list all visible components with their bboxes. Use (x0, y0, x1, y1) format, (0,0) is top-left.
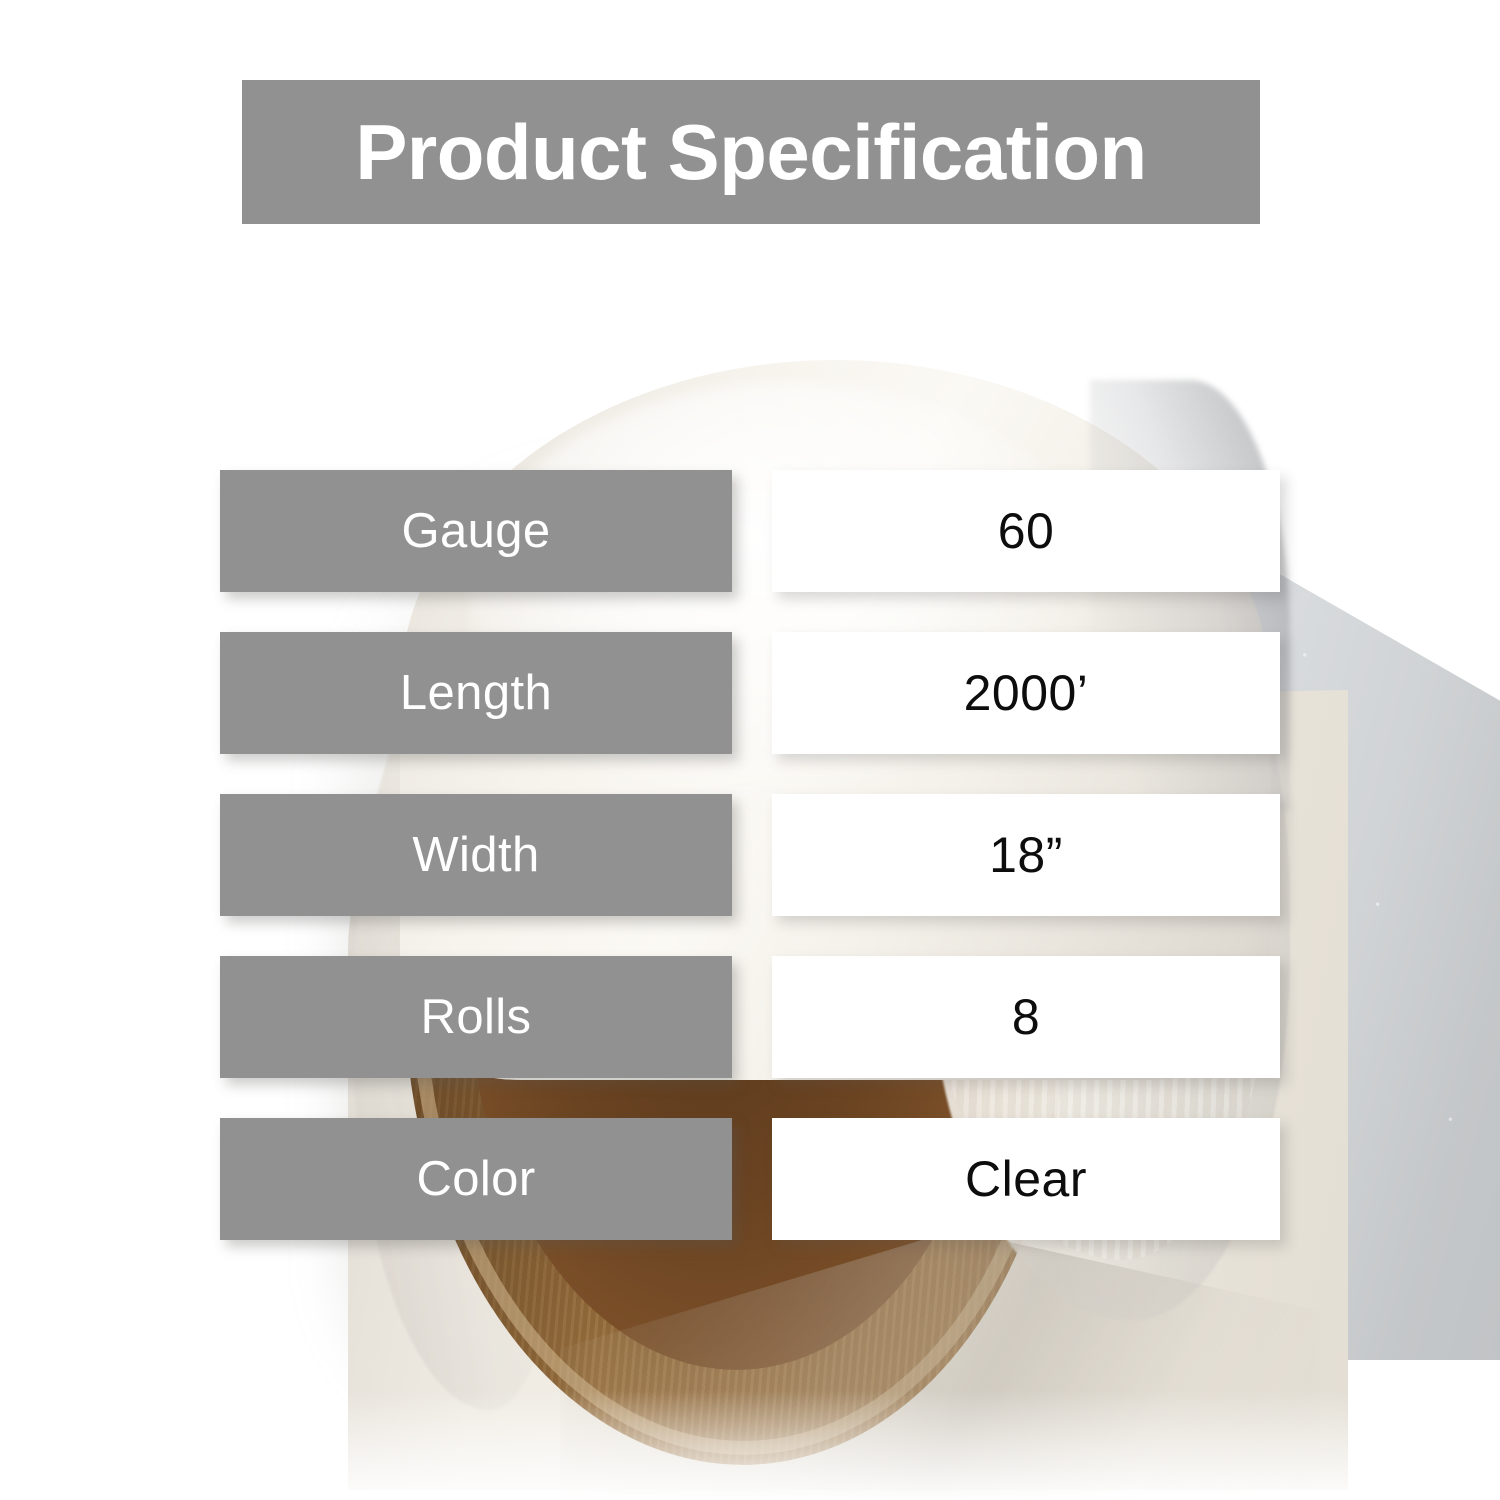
spec-value-text: 8 (1012, 992, 1040, 1042)
spec-label-cell: Width (220, 794, 732, 916)
spec-value-cell: 18” (772, 794, 1280, 916)
spec-table: Gauge 60 Length 2000’ Width 18” Rol (0, 0, 1500, 1500)
spec-value-text: 18” (989, 830, 1063, 880)
spec-label-text: Rolls (421, 993, 532, 1042)
spec-label-text: Gauge (401, 507, 550, 556)
spec-label-text: Width (412, 831, 539, 880)
spec-label-cell: Gauge (220, 470, 732, 592)
spec-value-text: 60 (998, 506, 1055, 556)
spec-label-cell: Length (220, 632, 732, 754)
spec-value-cell: Clear (772, 1118, 1280, 1240)
spec-value-cell: 60 (772, 470, 1280, 592)
table-row: Rolls 8 (220, 956, 1280, 1078)
table-row: Gauge 60 (220, 470, 1280, 592)
table-row: Length 2000’ (220, 632, 1280, 754)
spec-value-cell: 2000’ (772, 632, 1280, 754)
table-row: Color Clear (220, 1118, 1280, 1240)
spec-value-text: Clear (965, 1154, 1087, 1204)
spec-label-cell: Rolls (220, 956, 732, 1078)
spec-label-text: Color (416, 1155, 535, 1204)
spec-value-text: 2000’ (964, 668, 1089, 718)
spec-value-cell: 8 (772, 956, 1280, 1078)
spec-label-cell: Color (220, 1118, 732, 1240)
spec-label-text: Length (400, 669, 552, 718)
table-row: Width 18” (220, 794, 1280, 916)
product-specification-infographic: Product Specification Gauge 60 (0, 0, 1500, 1500)
